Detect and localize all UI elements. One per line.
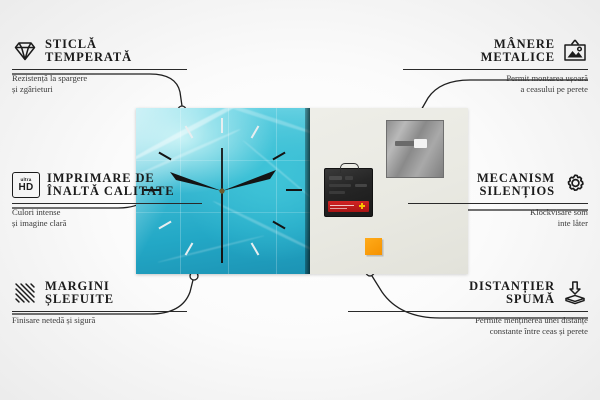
feature-title-line2: SPUMĂ <box>506 293 555 306</box>
label-plus-mark <box>359 203 365 209</box>
feature-title-line1: DISTANȚIER <box>469 280 555 293</box>
clock-mechanism-unit <box>324 168 373 217</box>
mechanism-detail <box>329 184 351 187</box>
feature-title-line1: STICLĂ <box>45 38 132 51</box>
mechanism-detail <box>355 184 367 187</box>
feature-desc-line1: Permit montarea ușoară <box>403 73 588 84</box>
metal-hanger-plate <box>386 120 444 178</box>
feature-desc-line1: Culori intense <box>12 207 202 218</box>
feature-divider <box>408 203 588 204</box>
label-text-line <box>330 205 354 206</box>
feature-title-line2: METALICE <box>481 51 555 64</box>
hanger-slot-opening <box>414 139 427 148</box>
feature-title-line1: MÂNERE <box>494 38 555 51</box>
gear-icon <box>562 172 588 198</box>
feature-title-line2: ÎNALTĂ CALITATE <box>47 185 175 198</box>
feature-desc-line1: Permite menținerea unei distanțe <box>348 315 588 326</box>
feature-desc-line1: Klockvisare som <box>408 207 588 218</box>
label-text-line <box>330 208 347 209</box>
diamond-icon <box>12 38 38 64</box>
feature-desc-line2: și imagine clară <box>12 218 202 229</box>
hanger-slot-recess <box>395 141 415 146</box>
feature-title-line1: MECANISM <box>477 172 555 185</box>
feature-desc-line2: a ceasului pe perete <box>403 84 588 95</box>
feature-desc-line2: și zgârieturi <box>12 84 187 95</box>
clock-second-hand <box>221 148 223 248</box>
feature-divider <box>348 311 588 312</box>
feature-desc-line1: Rezistență la spargere <box>12 73 187 84</box>
mechanism-detail <box>329 191 345 194</box>
feature-silent-mechanism: MECANISM SILENȚIOS Klockvisare som inte … <box>408 172 588 229</box>
feature-hd-print: ultra HD IMPRIMARE DE ÎNALTĂ CALITATE Cu… <box>12 172 202 229</box>
mechanism-detail <box>345 176 353 180</box>
feature-tempered-glass: STICLĂ TEMPERATĂ Rezistență la spargere … <box>12 38 187 95</box>
feature-polished-edges: MARGINI ȘLEFUITE Finisare netedă și sigu… <box>12 280 187 326</box>
feature-title-line2: SILENȚIOS <box>480 185 556 198</box>
feature-divider <box>12 311 187 312</box>
infographic-canvas: STICLĂ TEMPERATĂ Rezistență la spargere … <box>0 0 600 400</box>
feature-desc-line2: constante între ceas și perete <box>348 326 588 337</box>
feature-title-line2: TEMPERATĂ <box>45 51 132 64</box>
mechanism-red-label <box>328 201 369 212</box>
feature-divider <box>12 69 187 70</box>
feature-metal-handles: MÂNERE METALICE Permit montarea ușoară a… <box>403 38 588 95</box>
clock-minute-hand <box>222 170 276 191</box>
feature-desc-line2: inte låter <box>408 218 588 229</box>
foam-spacer-pad <box>365 238 382 255</box>
hatched-edge-icon <box>12 280 38 306</box>
feature-divider <box>12 203 202 204</box>
feature-foam-spacer: DISTANȚIER SPUMĂ Permite menținerea unei… <box>348 280 588 337</box>
feature-title-line1: MARGINI <box>45 280 114 293</box>
hd-badge-main-text: HD <box>18 183 33 193</box>
press-down-pad-icon <box>562 280 588 306</box>
mechanism-hanging-loop <box>340 163 359 173</box>
feature-title-line2: ȘLEFUITE <box>45 293 114 306</box>
feature-title-line1: IMPRIMARE DE <box>47 172 175 185</box>
feature-desc-line1: Finisare netedă și sigură <box>12 315 187 326</box>
feature-divider <box>403 69 588 70</box>
mechanism-detail <box>329 176 342 180</box>
clock-center-cap <box>219 188 224 193</box>
framed-picture-hanger-icon <box>562 38 588 64</box>
ultra-hd-badge-icon: ultra HD <box>12 172 40 198</box>
